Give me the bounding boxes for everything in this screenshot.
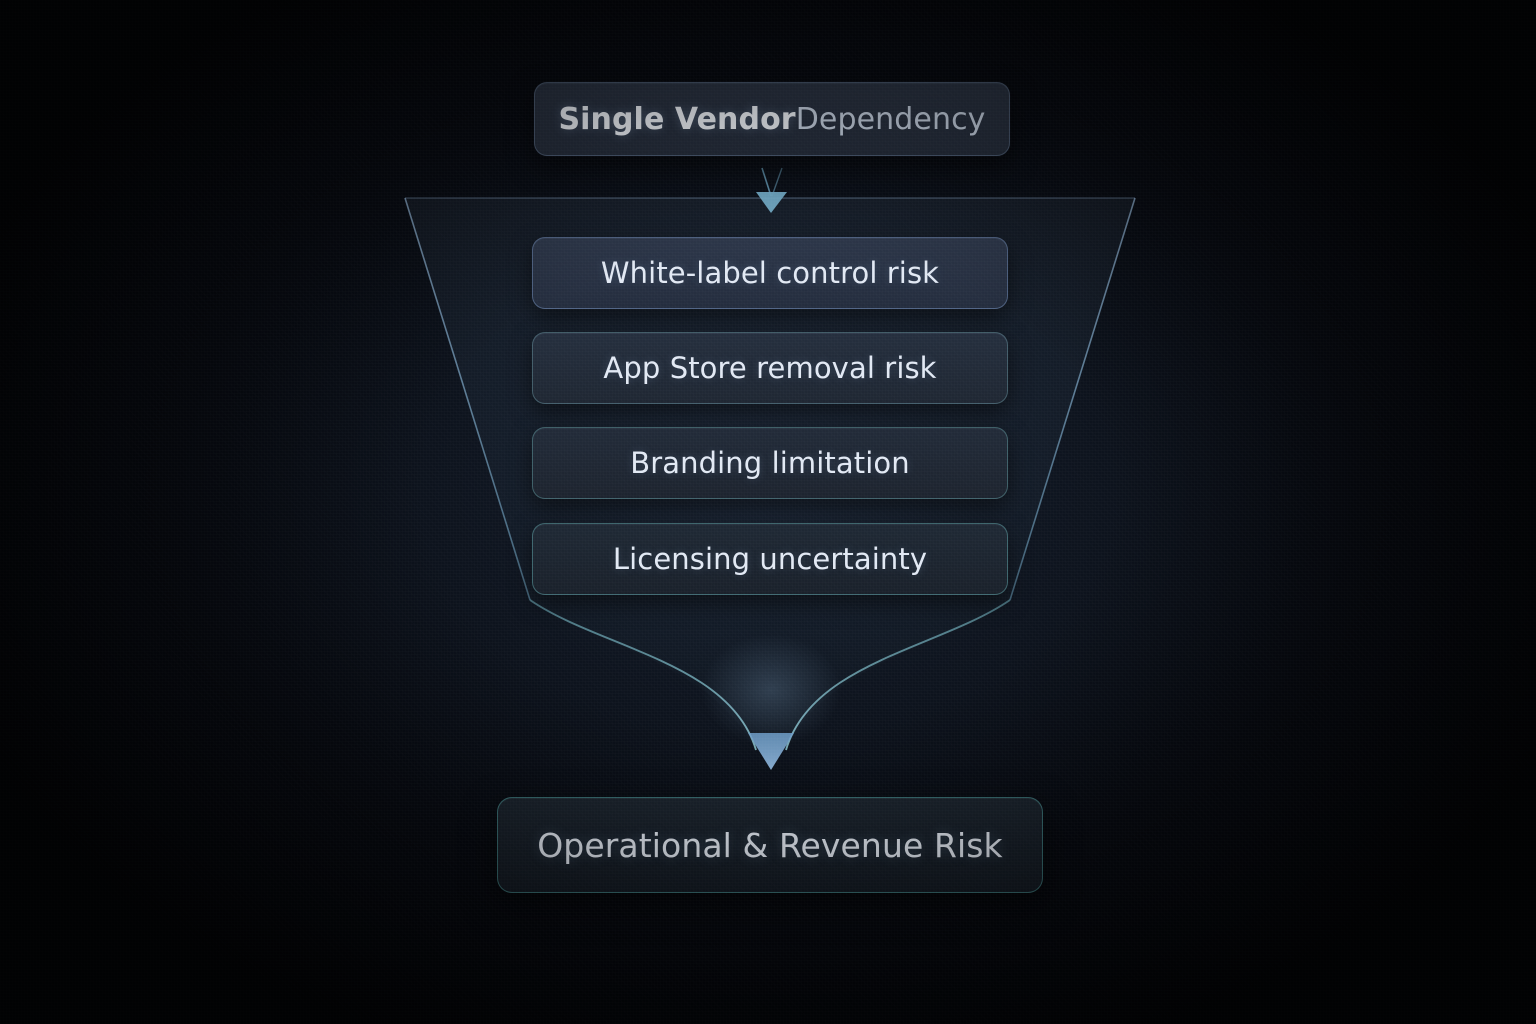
funnel-stage-1[interactable]: White-label control risk: [532, 237, 1008, 309]
down-arrow-icon: [748, 620, 794, 770]
funnel-stage-3[interactable]: Branding limitation: [532, 427, 1008, 499]
funnel-right-curve: [786, 600, 1010, 750]
top-node-label-light: Dependency: [796, 102, 986, 137]
funnel-stage-4-label: Licensing uncertainty: [613, 542, 927, 576]
funnel-stage-2[interactable]: App Store removal risk: [532, 332, 1008, 404]
top-node-label-strong: Single Vendor: [558, 102, 795, 137]
funnel-left-edge: [405, 198, 530, 600]
funnel-stage-4[interactable]: Licensing uncertainty: [532, 523, 1008, 595]
diagram-canvas: Single Vendor Dependency White-label con…: [0, 0, 1536, 1024]
funnel-left-curve: [530, 600, 756, 750]
funnel-right-edge: [1010, 198, 1135, 600]
funnel-stage-3-label: Branding limitation: [630, 446, 909, 480]
funnel-neck-glow: [701, 634, 841, 746]
funnel-stage-2-label: App Store removal risk: [603, 351, 936, 385]
outcome-node-label: Operational & Revenue Risk: [537, 826, 1003, 865]
outcome-node[interactable]: Operational & Revenue Risk: [497, 797, 1043, 893]
chevron-down-arrow-icon: [756, 168, 787, 213]
top-node[interactable]: Single Vendor Dependency: [534, 82, 1010, 156]
funnel-stage-1-label: White-label control risk: [601, 256, 939, 290]
